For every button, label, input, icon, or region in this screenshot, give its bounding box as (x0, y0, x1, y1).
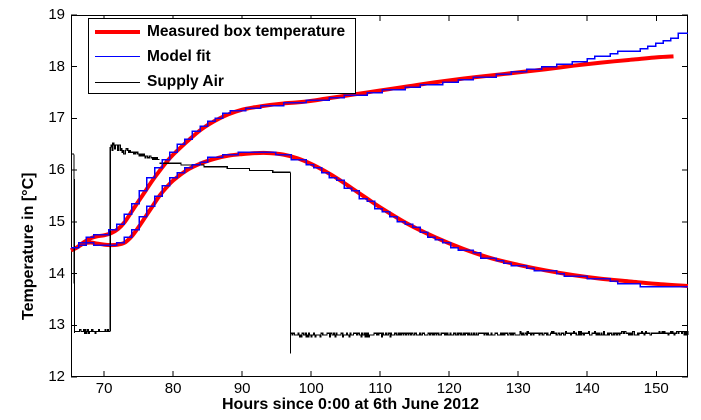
legend-label-measured: Measured box temperature (147, 24, 345, 40)
y-tick-label: 12 (35, 369, 65, 384)
y-tick-label: 17 (35, 110, 65, 125)
y-tick-label: 14 (35, 266, 65, 281)
legend-item-supply: Supply Air (89, 70, 355, 95)
x-tick-label: 80 (143, 381, 203, 396)
legend-label-supply: Supply Air (147, 74, 224, 90)
y-tick-label: 13 (35, 317, 65, 332)
figure-canvas: 1213141516171819 70809010011012013014015… (0, 0, 701, 420)
x-axis-title: Hours since 0:00 at 6th June 2012 (0, 396, 701, 414)
y-tick-label: 16 (35, 162, 65, 177)
x-tick-label: 120 (419, 381, 479, 396)
x-tick-label: 70 (74, 381, 134, 396)
y-axis-title: Temperature in [°C] (20, 173, 38, 320)
x-tick-label: 110 (350, 381, 410, 396)
x-tick-label: 150 (626, 381, 686, 396)
x-tick-label: 140 (557, 381, 617, 396)
legend-item-measured: Measured box temperature (89, 19, 355, 44)
legend-item-model: Model fit (89, 44, 355, 69)
legend-swatch-measured (95, 30, 140, 34)
x-tick-label: 130 (488, 381, 548, 396)
x-tick-label: 90 (212, 381, 272, 396)
y-tick-label: 19 (35, 7, 65, 22)
y-tick-label: 15 (35, 214, 65, 229)
x-tick-label: 100 (281, 381, 341, 396)
legend-label-model: Model fit (147, 49, 211, 65)
legend-swatch-supply (95, 82, 140, 83)
y-tick-label: 18 (35, 59, 65, 74)
legend-swatch-model (95, 56, 140, 57)
legend: Measured box temperature Model fit Suppl… (88, 18, 356, 94)
